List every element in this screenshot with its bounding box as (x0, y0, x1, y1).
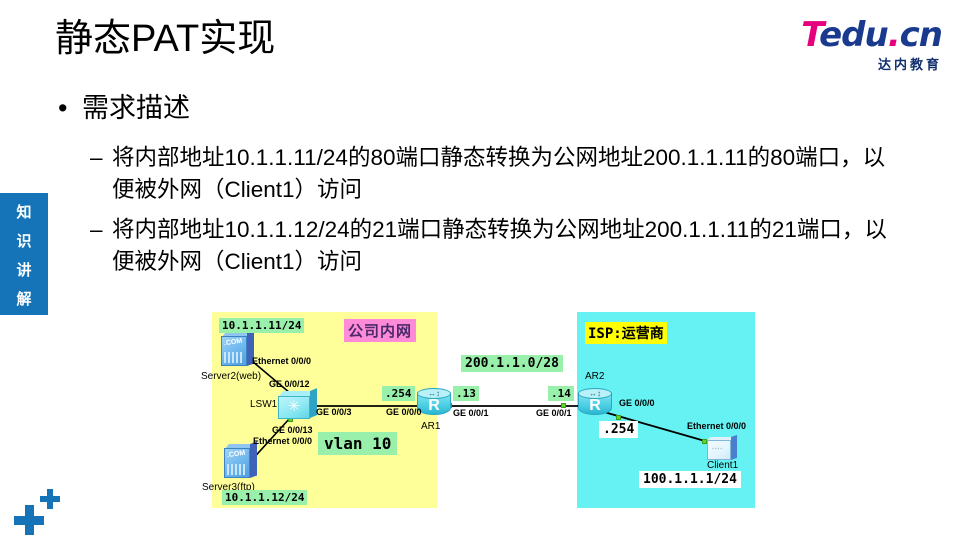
port-dot-icon (702, 439, 707, 444)
server-com-label: .COM (224, 338, 243, 347)
ip-tag-client1: 100.1.1.1/24 (639, 471, 741, 488)
logo-text-edu: edu (819, 15, 888, 55)
zone-label-isp: ISP:运营商 (585, 322, 667, 344)
logo-subtitle: 达内教育 (792, 54, 942, 73)
ip-tag-ar2-wan: .14 (548, 386, 574, 401)
device-label-ar1: AR1 (421, 421, 440, 432)
interface-label-server2-eth: Ethernet 0/0/0 (252, 356, 311, 366)
interface-label-client1-eth: Ethernet 0/0/0 (687, 421, 746, 431)
list-item-text: 将内部地址10.1.1.11/24的80端口静态转换为公网地址200.1.1.1… (112, 142, 905, 206)
zone-corporate-lan (212, 312, 437, 508)
plus-shape-small-icon (40, 489, 60, 509)
sidebar-tab-knowledge: 知 识 讲 解 (0, 193, 48, 315)
dash-marker-icon: – (90, 142, 112, 206)
side-tab-char: 识 (0, 227, 48, 256)
list-item: – 将内部地址10.1.1.12/24的21端口静态转换为公网地址200.1.1… (90, 214, 905, 278)
device-label-server2: Server2(web) (201, 371, 261, 382)
ip-tag-wan-subnet: 200.1.1.0/28 (461, 355, 563, 372)
server-com-label: .COM (227, 450, 246, 459)
page-title: 静态PAT实现 (55, 18, 275, 62)
logo-wordmark: Tedu.cn (792, 18, 942, 52)
port-dot-icon (419, 403, 424, 408)
ip-tag-ar1-wan: .13 (453, 386, 479, 401)
ip-tag-server2: 10.1.1.11/24 (219, 318, 304, 333)
port-dot-icon (288, 417, 293, 422)
ip-tag-ar2-lan: .254 (599, 421, 638, 438)
server-slots-icon (224, 352, 244, 363)
link-server3-lsw1 (249, 418, 290, 463)
device-label-client1: Client1 (707, 460, 738, 471)
port-dot-icon (288, 391, 293, 396)
port-dot-icon (312, 403, 317, 408)
bullet-level1: •需求描述 (58, 92, 190, 126)
port-dot-icon (561, 403, 566, 408)
device-label-server3: Server3(ftp) (202, 482, 255, 493)
link-server2-lsw1 (246, 356, 290, 393)
device-label-lsw1: LSW1 (250, 399, 277, 410)
ip-tag-lsw1-ar1: .254 (382, 386, 415, 401)
plus-shape-icon (14, 505, 44, 535)
vlan-tag: vlan 10 (318, 432, 397, 455)
interface-label-ar1-ge1: GE 0/0/1 (453, 408, 489, 418)
port-dot-icon (447, 403, 452, 408)
tedu-logo: Tedu.cn 达内教育 (792, 18, 942, 74)
port-dot-icon (247, 461, 252, 466)
list-item: – 将内部地址10.1.1.11/24的80端口静态转换为公网地址200.1.1… (90, 142, 905, 206)
logo-dot: . (888, 15, 900, 55)
bullet-level1-label: 需求描述 (82, 93, 190, 123)
interface-label-lsw1-ge3: GE 0/0/3 (316, 407, 352, 417)
ip-tag-server3: 10.1.1.12/24 (222, 490, 307, 505)
router-arrows-icon: ↔↕ (423, 389, 445, 398)
interface-label-server3-eth: Ethernet 0/0/0 (253, 436, 312, 446)
dash-marker-icon: – (90, 214, 112, 278)
bullet-dot-icon: • (58, 92, 82, 126)
zone-label-corporate-lan: 公司内网 (344, 319, 416, 342)
switch-arrows-icon: ✳ (285, 399, 303, 415)
pc-screen-icon: ▪▪▪▪ (712, 446, 723, 452)
server-slots-icon (227, 464, 247, 475)
zone-isp (577, 312, 755, 508)
port-dot-icon (616, 415, 621, 420)
port-dot-icon (244, 354, 249, 359)
side-tab-char: 讲 (0, 256, 48, 285)
interface-label-ar2-ge1: GE 0/0/1 (536, 408, 572, 418)
router-arrows-icon: ↔↕ (584, 389, 606, 398)
interface-label-lsw1-ge12: GE 0/0/12 (269, 379, 310, 389)
logo-letter-t: T (801, 15, 819, 55)
requirements-list: – 将内部地址10.1.1.11/24的80端口静态转换为公网地址200.1.1… (90, 142, 905, 286)
interface-label-lsw1-ge13: GE 0/0/13 (272, 425, 313, 435)
side-tab-char: 知 (0, 198, 48, 227)
device-label-ar2: AR2 (585, 371, 604, 382)
side-tab-char: 解 (0, 285, 48, 314)
list-item-text: 将内部地址10.1.1.12/24的21端口静态转换为公网地址200.1.1.1… (112, 214, 905, 278)
interface-label-ar2-ge0: GE 0/0/0 (619, 398, 655, 408)
interface-label-ar1-ge0: GE 0/0/0 (386, 407, 422, 417)
router-letter-r: R (417, 397, 451, 415)
link-ar2-client1 (604, 412, 705, 441)
router-letter-r: R (578, 397, 612, 415)
logo-text-cn: cn (900, 15, 942, 55)
